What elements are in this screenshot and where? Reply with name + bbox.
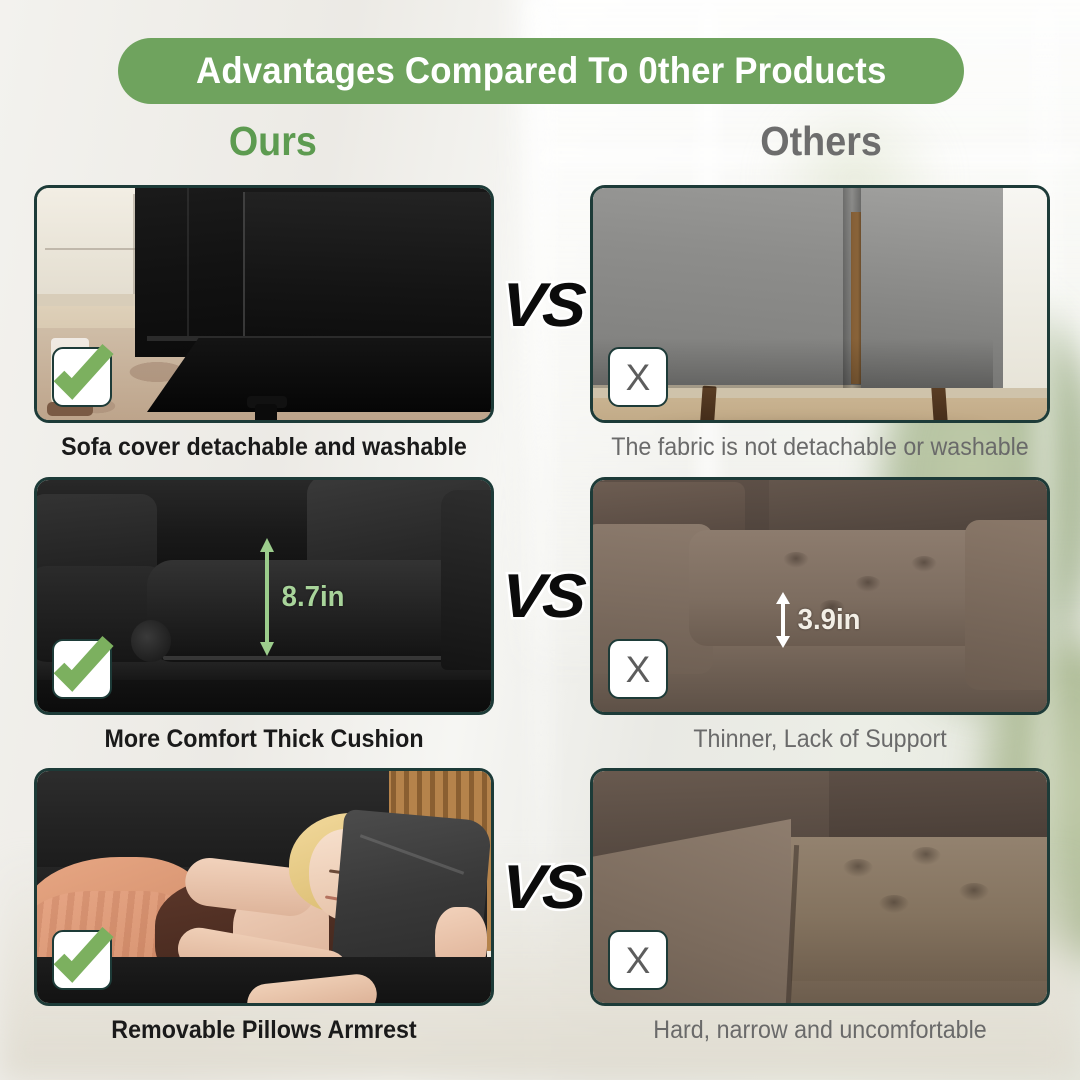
comparison-cell-ours-3: Removable Pillows Armrest: [34, 768, 494, 1006]
photo-cover-fold-a: [243, 192, 245, 352]
check-icon: [46, 922, 118, 994]
photo-seat-crease: [163, 656, 453, 660]
x-icon: X: [610, 932, 666, 988]
check-icon: [46, 631, 118, 703]
photo-tuft-4: [959, 883, 989, 901]
cross-badge-2: X: [608, 639, 668, 699]
x-icon: X: [610, 349, 666, 405]
comparison-cell-others-3: X Hard, narrow and uncomfortable: [590, 768, 1050, 1006]
x-icon: X: [610, 641, 666, 697]
vs-label-3: VS: [499, 852, 584, 923]
dimension-marker-others-2: 3.9in: [775, 592, 862, 648]
double-arrow-icon: [775, 592, 791, 648]
photo-sofa-arm-right: [965, 520, 1047, 690]
dimension-label-others-2: 3.9in: [798, 604, 861, 637]
dimension-marker-ours-2: 8.7in: [259, 538, 346, 656]
caption-others-3: Hard, narrow and uncomfortable: [606, 1016, 1034, 1045]
photo-tuft-2: [911, 847, 941, 865]
column-headers: Ours Others: [0, 118, 1080, 176]
vs-label-2: VS: [499, 561, 584, 632]
caption-others-2: Thinner, Lack of Support: [606, 725, 1034, 754]
column-header-ours: Ours: [229, 118, 317, 165]
photo-sofa-base: [147, 338, 491, 412]
vs-label-1: VS: [499, 270, 584, 341]
photo-tuft-1: [843, 859, 873, 877]
page-title: Advantages Compared To 0ther Products: [196, 50, 886, 92]
vs-badge-3: VS: [492, 844, 592, 930]
photo-sofa-cover-right: [243, 192, 491, 356]
photo-wood-leg-left: [699, 386, 716, 420]
column-header-others: Others: [760, 118, 882, 165]
check-badge-3: [52, 930, 112, 990]
check-badge-1: [52, 347, 112, 407]
comparison-cell-ours-2: 8.7in More Comfort Thick Cushion: [34, 477, 494, 715]
photo-tuft-3: [879, 895, 909, 913]
photo-tuft-3: [911, 556, 937, 572]
caption-ours-2: More Comfort Thick Cushion: [50, 725, 478, 754]
check-icon: [46, 339, 118, 411]
caption-others-1: The fabric is not detachable or washable: [606, 433, 1034, 462]
header-banner: Advantages Compared To 0ther Products: [118, 38, 964, 104]
photo-cover-fold-b: [187, 188, 189, 338]
photo-sofa-arm: [441, 490, 491, 670]
cross-badge-1: X: [608, 347, 668, 407]
cross-badge-3: X: [608, 930, 668, 990]
comparison-cell-others-2: 3.9in X Thinner, Lack of Support: [590, 477, 1050, 715]
photo-tuft-1: [783, 552, 809, 568]
vs-badge-1: VS: [492, 262, 592, 348]
check-badge-2: [52, 639, 112, 699]
caption-ours-1: Sofa cover detachable and washable: [50, 433, 478, 462]
double-arrow-icon: [259, 538, 275, 656]
vs-badge-2: VS: [492, 553, 592, 639]
comparison-cell-others-1: X The fabric is not detachable or washab…: [590, 185, 1050, 423]
photo-sofa-leg: [255, 404, 277, 420]
dimension-label-ours-2: 8.7in: [282, 581, 345, 614]
photo-tuft-2: [855, 576, 881, 592]
caption-ours-3: Removable Pillows Armrest: [50, 1016, 478, 1045]
comparison-cell-ours-1: Sofa cover detachable and washable: [34, 185, 494, 423]
